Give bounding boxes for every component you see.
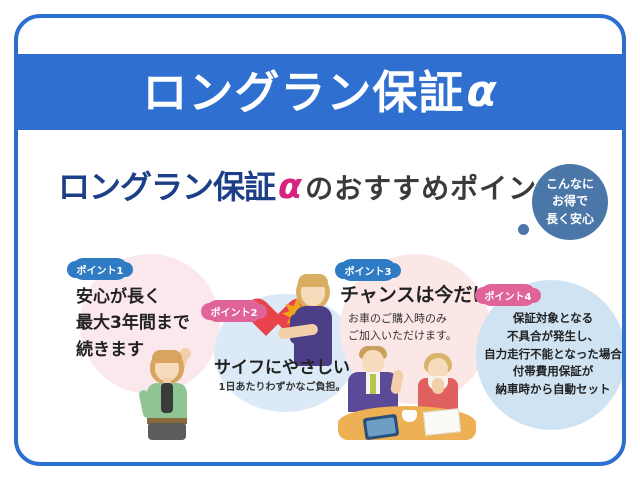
point-3-badge-label: ポイント3	[345, 263, 392, 278]
point-3-badge: ポイント3	[340, 259, 396, 281]
point-1-line-3: 続きます	[76, 337, 190, 363]
header-title-alpha: α	[464, 70, 497, 114]
point-4-text: 保証対象となる 不具合が発生し、 自力走行不能となった場合 付帯費用保証が 納車…	[480, 310, 626, 399]
man-head	[362, 350, 384, 374]
point-1-line-1: 安心が長く	[76, 284, 190, 310]
point-2-text: サイフにやさしい 1日あたりわずかなご負担。	[202, 358, 362, 395]
point-3-heading: チャンスは今だけ	[340, 284, 491, 307]
man-tie	[370, 374, 376, 394]
point-3-subtext-2: ご加入いただけます。	[348, 328, 491, 345]
point-1-badge: ポイント1	[72, 258, 128, 280]
bubble-tail-dot	[518, 224, 529, 235]
bubble-line-3: 長く安心	[546, 211, 594, 228]
point-4-line-3: 自力走行不能となった場合	[480, 346, 626, 364]
woman-hands	[432, 378, 444, 394]
header-title: ロングラン保証	[142, 70, 464, 115]
point-1-text: 安心が長く 最大3年間まで 続きます	[76, 284, 190, 363]
point-3-subtext-1: お車のご購入時のみ	[348, 311, 491, 328]
poster-frame: ロングラン保証α ロングラン保証αのおすすめポイント こんなに お得で 長く安心	[14, 14, 626, 466]
point-4-badge-label: ポイント4	[485, 288, 532, 303]
point-1-badge-label: ポイント1	[77, 262, 124, 277]
point-4-line-4: 付帯費用保証が	[480, 363, 626, 381]
point-1-line-2: 最大3年間まで	[76, 310, 190, 336]
point-3-text: チャンスは今だけ お車のご購入時のみ ご加入いただけます。	[340, 284, 491, 345]
heart-woman-fringe	[298, 274, 328, 287]
point-4-line-1: 保証対象となる	[480, 310, 626, 328]
main-heading-suffix: のおすすめポイント	[305, 172, 566, 205]
point-4-badge: ポイント4	[480, 284, 536, 306]
main-heading: ロングラン保証αのおすすめポイント	[58, 170, 566, 205]
point-4-line-5: 納車時から自動セット	[480, 381, 626, 399]
document-paper	[423, 408, 461, 436]
point-2-badge: ポイント2	[206, 300, 262, 322]
main-heading-alpha: α	[275, 167, 305, 207]
bubble-line-2: お得で	[552, 193, 588, 210]
point-4-line-2: 不具合が発生し、	[480, 328, 626, 346]
bubble-line-1: こんなに	[546, 176, 594, 193]
point-2-heading: サイフにやさしい	[202, 358, 362, 378]
point-2-badge-label: ポイント2	[211, 304, 258, 319]
main-heading-brand: ロングラン保証	[58, 168, 275, 206]
point-2-subtext: 1日あたりわずかなご負担。	[202, 381, 362, 395]
highlight-bubble: こんなに お得で 長く安心	[532, 164, 608, 240]
header-band: ロングラン保証α	[14, 54, 626, 130]
green-woman-skirt	[148, 423, 186, 440]
woman-with-heart-illustration	[256, 274, 342, 366]
green-woman-inner-top	[161, 383, 173, 413]
